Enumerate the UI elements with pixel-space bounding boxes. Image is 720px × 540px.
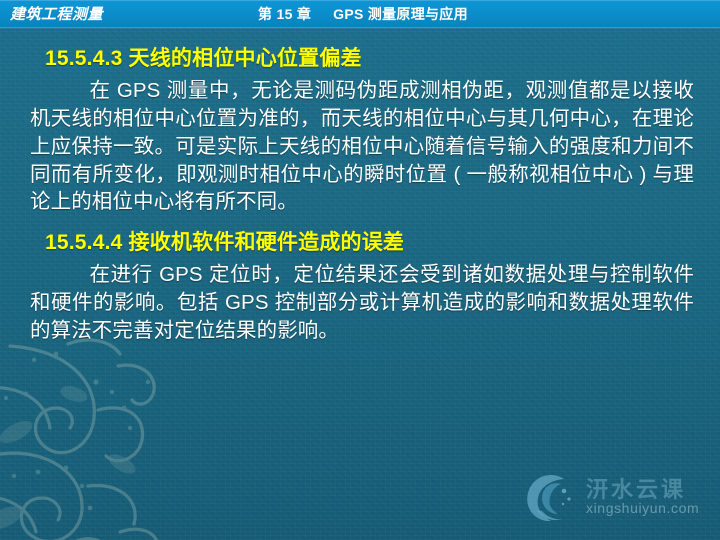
header-divider [0,27,720,29]
section-heading-15-5-4-3: 15.5.4.3 天线的相位中心位置偏差 [0,46,720,73]
section-paragraph-15-5-4-4: 在进行 GPS 定位时，定位结果还会受到诸如数据处理与控制软件和硬件的影响。包括… [0,261,720,345]
wave-logo-icon [520,468,578,526]
chapter-title-group: 第 15 章GPS 测量原理与应用 [258,4,468,24]
slide-header-band: 建筑工程测量 第 15 章GPS 测量原理与应用 [0,0,720,27]
watermark-url-text: xingshuiyun.com [586,500,699,516]
section-paragraph-15-5-4-3: 在 GPS 测量中，无论是测码伪距成测相伪距，观测值都是以接收机天线的相位中心位… [0,77,720,216]
course-title: 建筑工程测量 [10,3,103,24]
chapter-number: 第 15 章 [258,6,311,22]
watermark-brand-text: 汧水云课 [586,472,686,504]
slide-canvas: 建筑工程测量 第 15 章GPS 测量原理与应用 15.5.4.3 天线的相位中… [0,0,720,540]
corner-ornament-decoration [0,336,250,540]
chapter-name: GPS 测量原理与应用 [333,6,468,22]
watermark: 汧水云课 xingshuiyun.com [520,466,708,528]
slide-body: 15.5.4.3 天线的相位中心位置偏差 在 GPS 测量中，无论是测码伪距成测… [0,27,720,345]
section-heading-15-5-4-4: 15.5.4.4 接收机软件和硬件造成的误差 [0,230,720,257]
